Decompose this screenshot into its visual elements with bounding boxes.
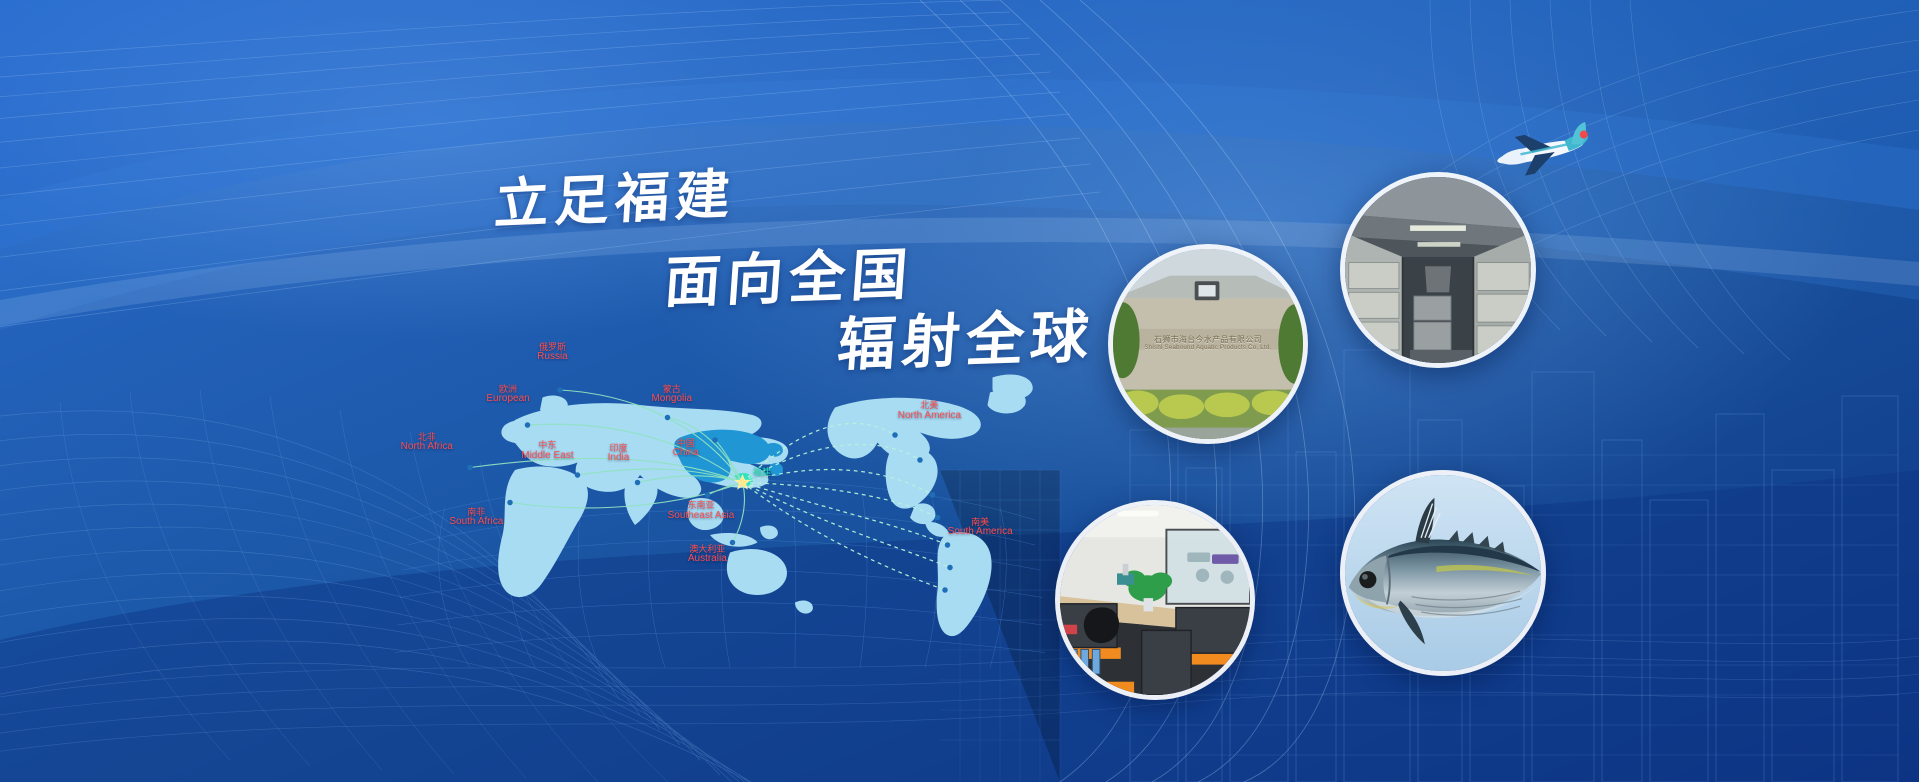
region-label-en: India [608,453,630,464]
region-label-en: European [486,394,529,405]
map-region-label-north-africa: 北非North Africa [401,433,453,453]
factory-entrance-photo[interactable]: 石狮市海台今水产品有限公司 Shishi Seabound Aquatic Pr… [1108,244,1308,444]
home-marker-cn: 福建 [753,468,771,477]
banner-root: 立足福建 面向全国 辐射全球 [0,0,1919,782]
map-home-marker-label: 福建 [753,468,771,477]
region-label-en: Australia [688,554,727,565]
factory-sign-caption: 石狮市海台今水产品有限公司 Shishi Seabound Aquatic Pr… [1124,335,1291,353]
airplane-icon [1480,120,1600,180]
region-label-en: Russia [537,352,568,363]
region-label-en: Middle East [521,451,573,462]
region-label-en: Mongolia [651,394,692,405]
region-label-en: South Africa [449,517,503,528]
region-label-en: South America [948,527,1013,538]
headline-block: 立足福建 面向全国 辐射全球 [0,0,1100,380]
map-region-label-china: 中国China [673,439,699,459]
map-region-label-mongolia: 蒙古Mongolia [651,385,692,405]
map-region-label-india: 印度India [608,444,630,464]
map-region-label-south-africa: 南非South Africa [449,508,503,528]
region-label-en: Southeast Asia [668,511,735,522]
headline-line-1: 立足福建 [493,150,739,239]
world-distribution-map: 俄罗斯Russia蒙古Mongolia中国China欧洲European北非No… [390,370,1050,670]
factory-sign-cn: 石狮市海台今水产品有限公司 [1124,335,1291,345]
skipjack-tuna-photo[interactable] [1340,470,1546,676]
map-region-label-russia: 俄罗斯Russia [537,343,568,363]
cold-storage-warehouse-photo[interactable] [1340,172,1536,368]
map-region-label-north-america: 北美North America [898,401,961,421]
map-region-label-south-america: 南美South America [948,518,1013,538]
headline-line-3: 辐射全球 [835,289,1098,382]
factory-sign-en: Shishi Seabound Aquatic Products Co. Ltd… [1124,345,1291,353]
region-label-en: North America [898,411,961,422]
map-region-label-european: 欧洲European [486,385,529,405]
map-region-label-southeast-asia: 东南亚Southeast Asia [668,501,735,521]
region-label-en: China [673,448,699,459]
map-region-label-middle-east: 中东Middle East [521,441,573,461]
map-region-label-australia: 澳大利亚Australia [688,545,727,565]
office-workspace-photo[interactable] [1055,500,1255,700]
region-label-en: North Africa [401,442,453,453]
